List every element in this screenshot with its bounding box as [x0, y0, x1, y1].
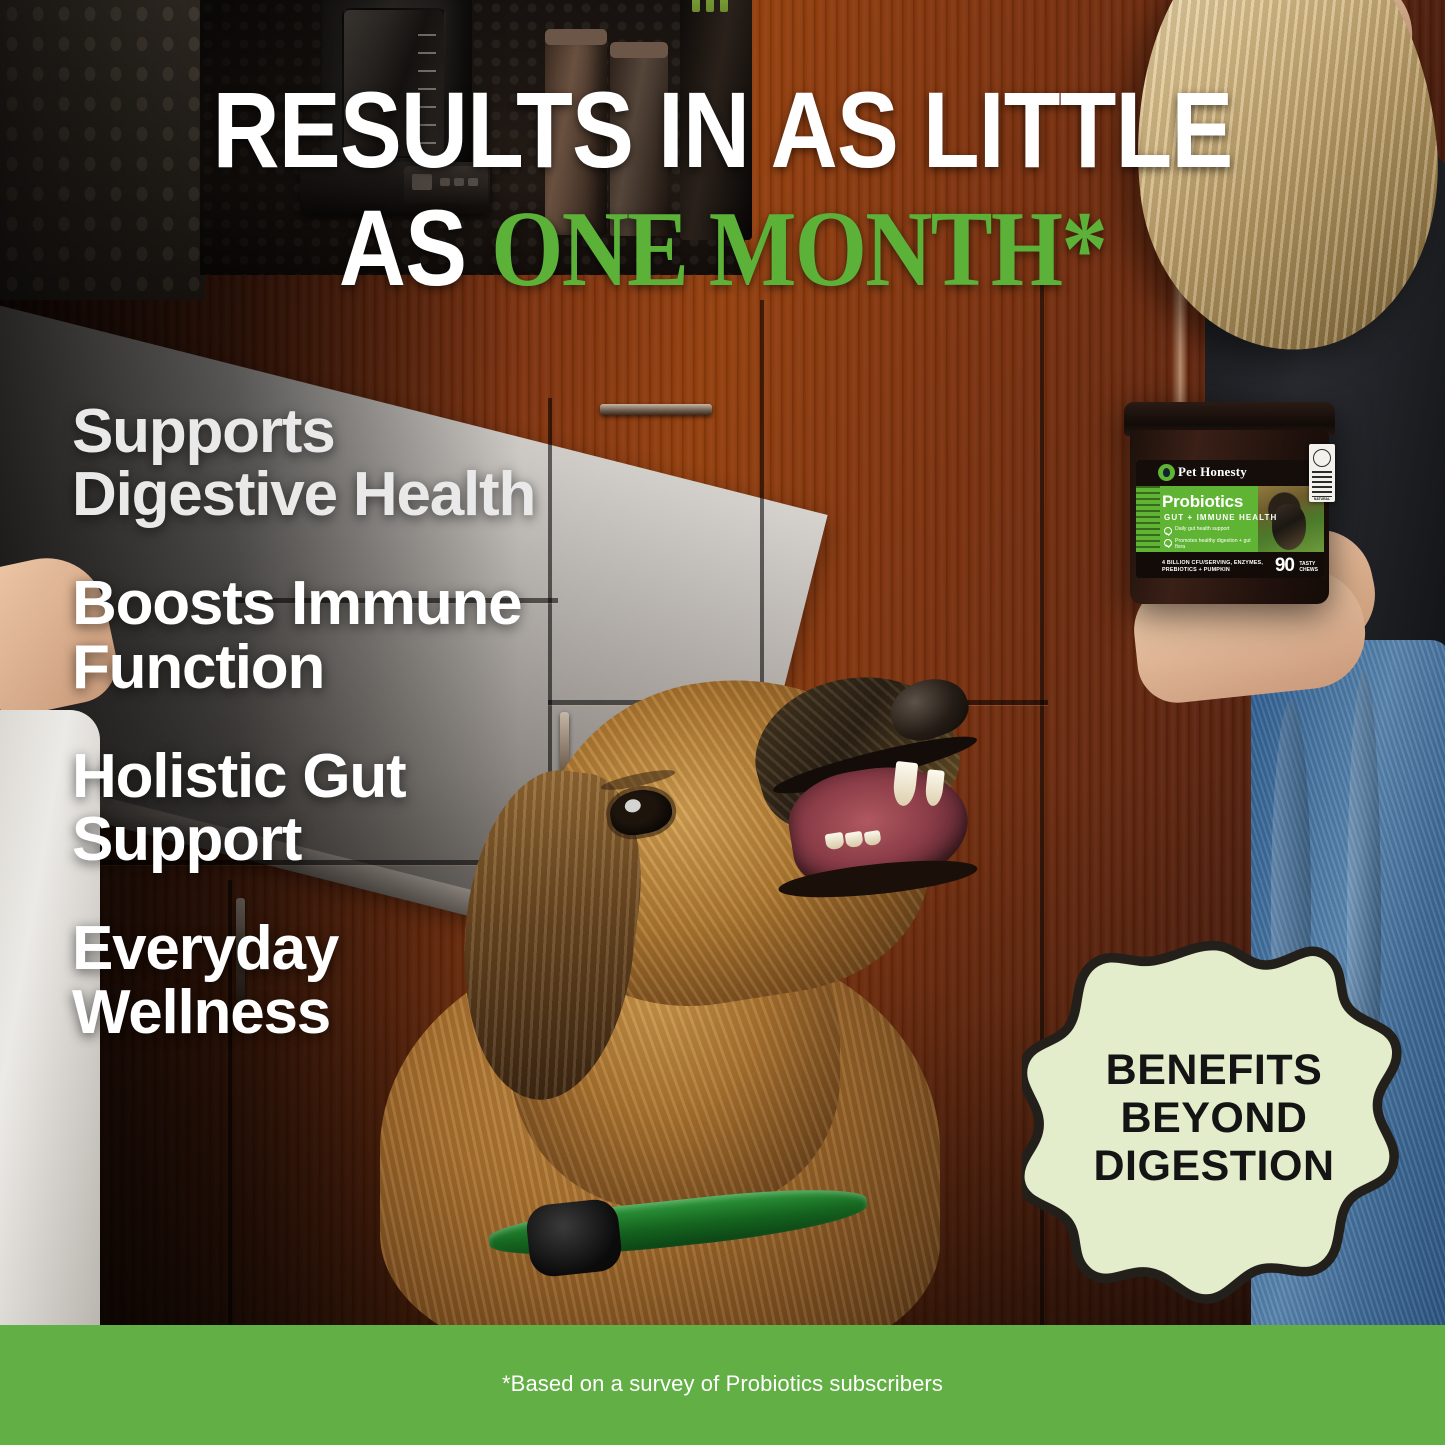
natural-seal-badge: NATURAL: [1309, 444, 1335, 502]
bullet-text: Daily gut health support: [1175, 526, 1230, 532]
benefit-item-3: Holistic Gut Support: [72, 745, 712, 871]
product-count-unit: TASTY CHEWS: [1299, 561, 1318, 573]
benefit-3-line2: Support: [72, 808, 712, 871]
product-jar: Pet Honesty Probiotics GUT + IMMUNE HEAL…: [1122, 402, 1337, 604]
product-ad-image: Pet Honesty Probiotics GUT + IMMUNE HEAL…: [0, 0, 1445, 1445]
headline-line2-white: AS: [339, 187, 491, 308]
bullet-text: Promotes healthy digestion + gut flora: [1175, 538, 1258, 550]
badge-line-3: DIGESTION: [1022, 1142, 1406, 1190]
benefit-item-1: Supports Digestive Health: [72, 400, 712, 526]
benefit-1-line1: Supports: [72, 397, 335, 466]
count-unit-line2: CHEWS: [1299, 567, 1318, 573]
benefit-item-4: Everyday Wellness: [72, 917, 712, 1043]
jar-label: Pet Honesty Probiotics GUT + IMMUNE HEAL…: [1136, 460, 1324, 578]
benefit-2-line1: Boosts Immune: [72, 569, 521, 638]
dog-tooth: [825, 832, 845, 851]
headline-line2-green: ONE MONTH*: [491, 190, 1106, 309]
badge-text: BENEFITS BEYOND DIGESTION: [1022, 1046, 1406, 1190]
label-ingredient-panel: [1136, 486, 1160, 552]
brand-name: Pet Honesty: [1178, 464, 1247, 480]
seal-ring-icon: [1313, 449, 1331, 467]
product-bullet: Promotes healthy digestion + gut flora: [1164, 538, 1258, 550]
benefit-4-line2: Wellness: [72, 981, 712, 1044]
badge-line-1: BENEFITS: [1022, 1046, 1406, 1094]
benefit-2-line2: Function: [72, 636, 712, 699]
footer-green-bar: *Based on a survey of Probiotics subscri…: [0, 1325, 1445, 1445]
product-count: 90: [1275, 555, 1294, 577]
benefit-item-2: Boosts Immune Function: [72, 572, 712, 698]
seal-barcode-icon: [1312, 471, 1332, 497]
product-bullet: Daily gut health support: [1164, 526, 1258, 535]
headline: RESULTS IN AS LITTLE AS ONE MONTH*: [0, 78, 1445, 301]
dog-tooth: [864, 830, 882, 846]
headline-line-2: AS ONE MONTH*: [101, 196, 1344, 302]
product-subtitle: GUT + IMMUNE HEALTH: [1164, 513, 1277, 522]
check-icon: [1164, 539, 1172, 547]
benefit-list: Supports Digestive Health Boosts Immune …: [72, 400, 712, 1090]
headline-line-1: RESULTS IN AS LITTLE: [101, 78, 1344, 182]
check-icon: [1164, 527, 1172, 535]
canister-lid: [545, 29, 607, 45]
knife-handle-3: [720, 0, 728, 12]
benefit-1-line2: Digestive Health: [72, 463, 712, 526]
product-claim: 4 BILLION CFU/SERVING, ENZYMES, PREBIOTI…: [1162, 560, 1280, 574]
product-title: Probiotics: [1162, 492, 1243, 512]
dog-collar-tag: [524, 1197, 623, 1278]
dog-tooth: [845, 831, 864, 848]
pet-honesty-logo-icon: [1158, 464, 1175, 481]
benefit-4-line1: Everyday: [72, 914, 338, 983]
knife-handle-2: [706, 0, 714, 12]
footnote-disclaimer: *Based on a survey of Probiotics subscri…: [0, 1371, 1445, 1397]
benefits-beyond-digestion-badge: BENEFITS BEYOND DIGESTION: [1022, 938, 1406, 1318]
canister-lid: [610, 42, 668, 58]
badge-line-2: BEYOND: [1022, 1094, 1406, 1142]
seal-label: NATURAL: [1309, 497, 1335, 501]
knife-handle-1: [692, 0, 700, 12]
benefit-3-line1: Holistic Gut: [72, 742, 406, 811]
